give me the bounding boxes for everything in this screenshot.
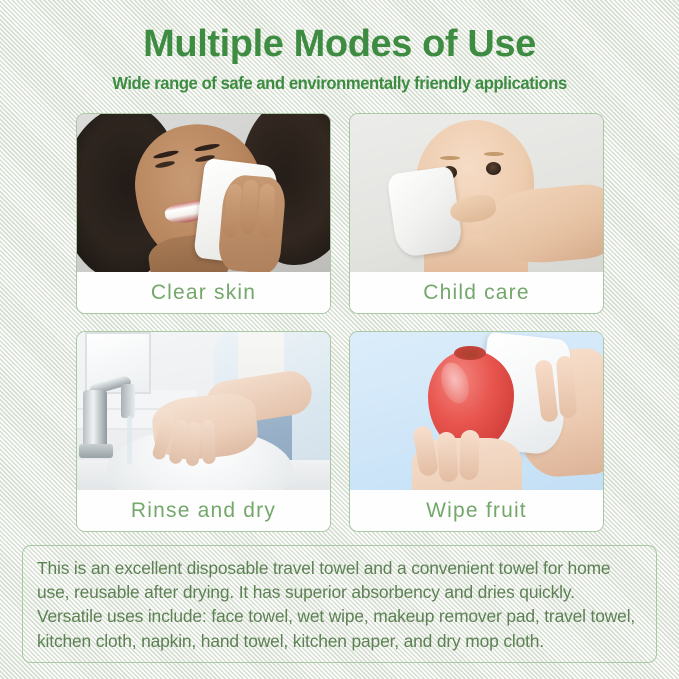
faucet-spout-shape [121, 384, 135, 418]
apple-stem-well-shape [454, 346, 486, 360]
use-cases-grid: Clear skin Child care [76, 113, 604, 532]
faucet-body-shape [83, 390, 107, 448]
caption-band: Clear skin [77, 272, 330, 313]
header: Multiple Modes of Use Wide range of safe… [0, 22, 679, 94]
baby-face-wipe-photo [350, 114, 603, 272]
card-caption: Rinse and dry [131, 499, 276, 523]
caption-band: Child care [350, 272, 603, 313]
page-title: Multiple Modes of Use [0, 22, 679, 66]
page-subtitle: Wide range of safe and environmentally f… [17, 72, 662, 94]
use-case-card-rinse-and-dry: Rinse and dry [76, 331, 331, 532]
caption-band: Rinse and dry [77, 490, 330, 531]
card-caption: Clear skin [151, 281, 256, 305]
eyebrow-left-shape [440, 156, 460, 160]
eyebrow-right-shape [484, 152, 504, 156]
infographic-page: Multiple Modes of Use Wide range of safe… [0, 0, 679, 679]
water-stream-shape [127, 416, 132, 464]
finger-shape [258, 184, 275, 238]
finger-shape [459, 430, 480, 481]
use-case-card-wipe-fruit: Wipe fruit [349, 331, 604, 532]
finger-shape [201, 420, 216, 464]
use-case-card-child-care: Child care [349, 113, 604, 314]
use-case-card-clear-skin: Clear skin [76, 113, 331, 314]
caption-band: Wipe fruit [350, 490, 603, 531]
woman-wiping-face-photo [77, 114, 330, 272]
finger-shape [436, 431, 458, 482]
baby-hair-shape [412, 114, 538, 166]
description-box: This is an excellent disposable travel t… [22, 545, 657, 663]
eye-right-shape [486, 162, 501, 175]
card-caption: Wipe fruit [426, 499, 527, 523]
wiping-apple-photo [350, 332, 603, 490]
description-text: This is an excellent disposable travel t… [37, 556, 642, 653]
card-caption: Child care [423, 281, 530, 305]
washing-hands-sink-photo [77, 332, 330, 490]
faucet-base-shape [79, 444, 113, 458]
